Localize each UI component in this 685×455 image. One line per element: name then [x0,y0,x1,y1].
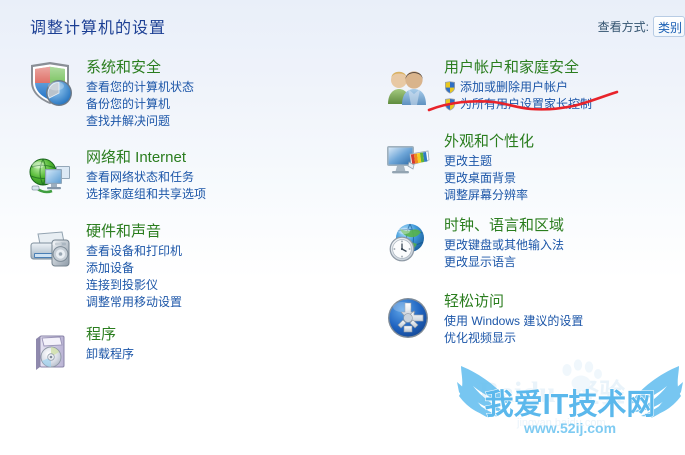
programs-cd-icon [26,327,74,375]
category-link[interactable]: 查看网络状态和任务 [86,169,356,186]
site-watermark: Baidu 经验 jingyan.baidu.com [455,352,685,450]
category-hardware-and-sound: 硬件和声音 查看设备和打印机 添加设备 连接到投影仪 调整常用移动设置 [26,222,356,321]
category-system-and-security: 系统和安全 查看您的计算机状态 备份您的计算机 查找并解决问题 [26,58,356,144]
category-network-and-internet: 网络和 Internet 查看网络状态和任务 选择家庭组和共享选项 [26,148,356,218]
ease-of-access-icon [384,294,432,342]
category-clock-language-region: 时钟、语言和区域 更改键盘或其他输入法 更改显示语言 [384,216,684,288]
page-header: 调整计算机的设置 查看方式: 类别 [0,0,685,48]
watermark-url-text: www.52ij.com [523,420,616,436]
category-link[interactable]: 查看设备和打印机 [86,243,356,260]
category-link[interactable]: 为所有用户设置家长控制 [444,96,684,113]
appearance-monitor-icon [384,134,432,182]
category-link[interactable]: 更改显示语言 [444,254,684,271]
category-title[interactable]: 程序 [86,325,356,345]
category-link[interactable]: 更改桌面背景 [444,170,684,187]
category-title[interactable]: 外观和个性化 [444,132,684,152]
category-title[interactable]: 硬件和声音 [86,222,356,242]
category-body: 系统和安全 查看您的计算机状态 备份您的计算机 查找并解决问题 [86,58,356,130]
category-link[interactable]: 调整常用移动设置 [86,294,356,311]
category-link[interactable]: 备份您的计算机 [86,96,356,113]
category-body: 时钟、语言和区域 更改键盘或其他输入法 更改显示语言 [444,216,684,271]
category-body: 轻松访问 使用 Windows 建议的设置 优化视频显示 [444,292,684,347]
category-link[interactable]: 使用 Windows 建议的设置 [444,313,684,330]
category-link[interactable]: 更改主题 [444,153,684,170]
category-link[interactable]: 查看您的计算机状态 [86,79,356,96]
category-user-accounts: 用户帐户和家庭安全 添加或删除用户帐户 [384,58,684,128]
category-title[interactable]: 系统和安全 [86,58,356,78]
page-title: 调整计算机的设置 [30,14,166,38]
view-by-dropdown[interactable]: 类别 [653,16,685,37]
category-appearance: 外观和个性化 更改主题 更改桌面背景 调整屏幕分辨率 [384,132,684,212]
view-by-value: 类别 [658,19,682,36]
svg-text:经验: 经验 [573,378,625,408]
uac-shield-icon [444,98,456,111]
category-body: 外观和个性化 更改主题 更改桌面背景 调整屏幕分辨率 [444,132,684,204]
svg-text:Baidu: Baidu [479,376,556,409]
category-link[interactable]: 卸载程序 [86,346,356,363]
svg-text:jingyan.baidu.com: jingyan.baidu.com [516,417,606,429]
watermark-main-text: 我爱IT技术网 [485,388,656,421]
category-body: 硬件和声音 查看设备和打印机 添加设备 连接到投影仪 调整常用移动设置 [86,222,356,311]
category-title[interactable]: 时钟、语言和区域 [444,216,684,236]
security-shield-icon [26,60,74,108]
category-body: 网络和 Internet 查看网络状态和任务 选择家庭组和共享选项 [86,148,356,203]
category-link[interactable]: 更改键盘或其他输入法 [444,237,684,254]
category-ease-of-access: 轻松访问 使用 Windows 建议的设置 优化视频显示 [384,292,684,362]
user-accounts-icon [384,60,432,108]
uac-shield-icon [444,81,456,94]
category-link-label: 添加或删除用户帐户 [460,79,568,96]
network-globe-icon [26,150,74,198]
right-category-column: 用户帐户和家庭安全 添加或删除用户帐户 [384,58,684,366]
category-title[interactable]: 网络和 Internet [86,148,356,168]
clock-language-icon [384,218,432,266]
category-link[interactable]: 调整屏幕分辨率 [444,187,684,204]
left-category-column: 系统和安全 查看您的计算机状态 备份您的计算机 查找并解决问题 [26,58,356,389]
category-title[interactable]: 用户帐户和家庭安全 [444,58,684,78]
category-body: 程序 卸载程序 [86,325,356,363]
view-by-control: 查看方式: 类别 [598,16,685,37]
category-link-label: 为所有用户设置家长控制 [460,96,592,113]
printer-sound-icon [26,224,74,272]
category-link[interactable]: 优化视频显示 [444,330,684,347]
control-panel-page: 调整计算机的设置 查看方式: 类别 [0,0,685,450]
category-programs: 程序 卸载程序 [26,325,356,385]
category-link[interactable]: 添加或删除用户帐户 [444,79,684,96]
category-title[interactable]: 轻松访问 [444,292,684,312]
category-body: 用户帐户和家庭安全 添加或删除用户帐户 [444,58,684,113]
category-link[interactable]: 连接到投影仪 [86,277,356,294]
category-link[interactable]: 查找并解决问题 [86,113,356,130]
category-link[interactable]: 选择家庭组和共享选项 [86,186,356,203]
category-link[interactable]: 添加设备 [86,260,356,277]
view-by-label: 查看方式: [598,18,649,35]
